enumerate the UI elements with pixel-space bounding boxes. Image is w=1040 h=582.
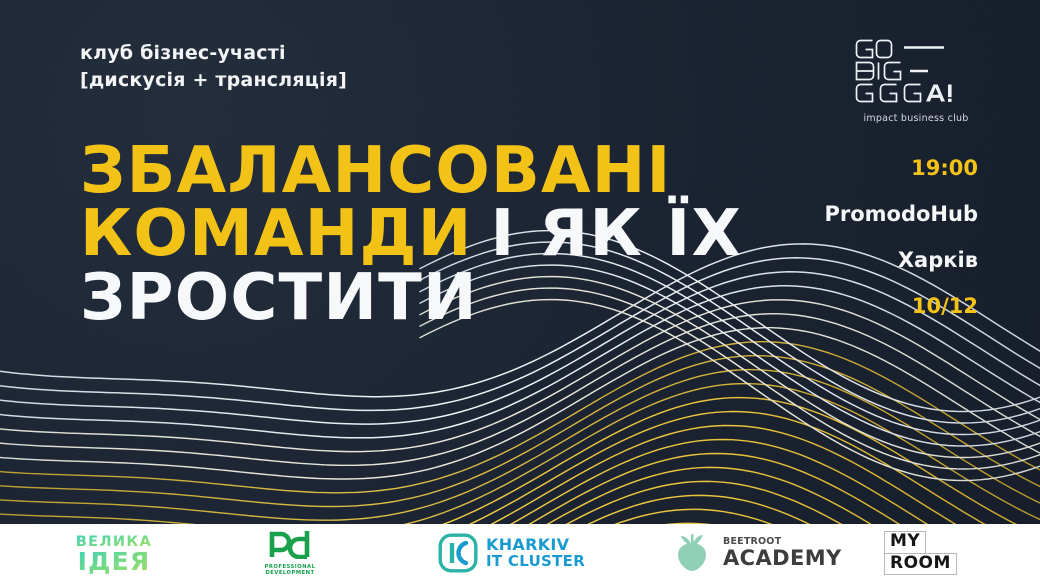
headline-line-2-white: І ЯК ЇХ (490, 197, 742, 271)
poster-dark-stage: клуб бізнес-участі [дискусія + трансляці… (0, 0, 1040, 524)
my-room-line-1: MY (884, 531, 926, 554)
go-big-goa-logo-mark (852, 36, 982, 104)
sponsor-kharkiv-it-cluster: KHARKIV IT CLUSTER (438, 524, 585, 582)
go-big-goa-logo: impact business club (852, 36, 982, 124)
sponsor-professional-development: PROFESSIONAL DEVELOPMENT (262, 524, 318, 582)
sponsor-velyka-ideya: ВЕЛИКА ІДЕЯ (66, 524, 162, 582)
pd-line-2: DEVELOPMENT (262, 571, 318, 577)
headline-line-3: ЗРОСТИТИ (80, 267, 742, 330)
kharkiv-it-cluster-logo-icon (438, 533, 478, 573)
kicker-line-2: [дискусія + трансляція] (80, 69, 347, 91)
my-room-line-2: ROOM (884, 553, 957, 576)
kicker-line-1: клуб бізнес-участі (80, 42, 286, 64)
kharkiv-line-2: IT CLUSTER (486, 554, 585, 569)
sponsor-footer: ВЕЛИКА ІДЕЯ PROFESSIONAL DEVELOPMENT (0, 524, 1040, 582)
brand-tagline: impact business club (852, 113, 982, 124)
beetroot-icon (672, 532, 716, 574)
event-time: 19:00 (768, 158, 978, 179)
pd-logo-icon (262, 529, 318, 559)
velyka-ideya-line-2: ІДЕЯ (78, 547, 151, 576)
event-details: 19:00 PromodoHub Харків 10/12 (768, 158, 978, 317)
event-city: Харків (768, 250, 978, 271)
kicker-text: клуб бізнес-участі [дискусія + трансляці… (80, 40, 347, 94)
beetroot-line-2: ACADEMY (723, 548, 842, 569)
sponsor-my-room: MY ROOM (884, 524, 957, 582)
sponsor-beetroot-academy: BEETROOT ACADEMY (672, 524, 842, 582)
headline-line-1: ЗБАЛАНСОВАНІ (80, 140, 742, 203)
headline-line-2: КОМАНДИІ ЯК ЇХ (80, 203, 742, 266)
event-venue: PromodoHub (768, 204, 978, 225)
event-date: 10/12 (768, 296, 978, 317)
beetroot-line-1: BEETROOT (723, 537, 842, 547)
velyka-ideya-logo-icon: ВЕЛИКА ІДЕЯ (66, 530, 162, 576)
event-poster: клуб бізнес-участі [дискусія + трансляці… (0, 0, 1040, 582)
headline: ЗБАЛАНСОВАНІ КОМАНДИІ ЯК ЇХ ЗРОСТИТИ (80, 140, 742, 330)
